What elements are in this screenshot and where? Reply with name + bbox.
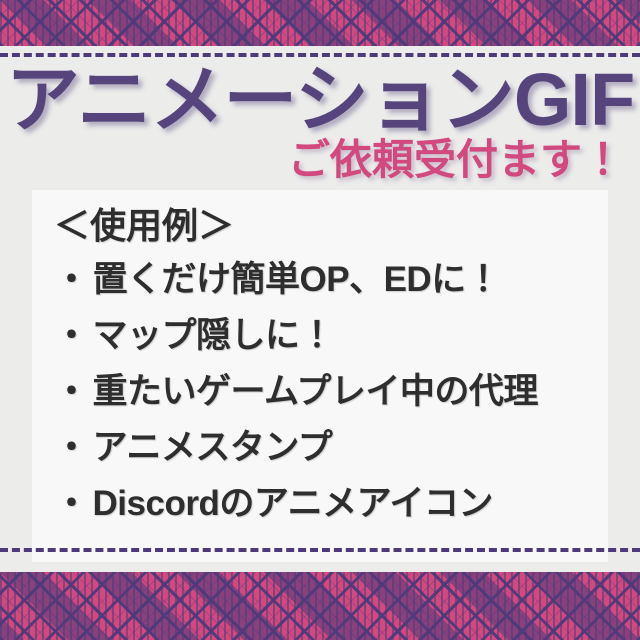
list-item: ・マップ隠しに！ <box>54 308 608 364</box>
bullet-icon: ・ <box>54 308 89 364</box>
page-subtitle: ご依頼受付ます！ <box>0 136 640 184</box>
list-item: ・Discordのアニメアイコン <box>54 476 608 532</box>
usage-card-heading: ＜使用例＞ <box>54 204 608 248</box>
list-item-label: 置くだけ簡単OP、EDに！ <box>93 260 501 299</box>
bullet-icon: ・ <box>54 252 89 308</box>
list-item: ・置くだけ簡単OP、EDに！ <box>54 252 608 308</box>
usage-list: ・置くだけ簡単OP、EDに！ ・マップ隠しに！ ・重たいゲームプレイ中の代理 ・… <box>54 252 608 532</box>
bullet-icon: ・ <box>54 420 89 476</box>
list-item: ・重たいゲームプレイ中の代理 <box>54 364 608 420</box>
plaid-band-top <box>0 0 640 46</box>
bullet-icon: ・ <box>54 364 89 420</box>
dashed-divider-bottom <box>0 548 640 552</box>
list-item: ・アニメスタンプ <box>54 420 608 476</box>
plaid-band-bottom <box>0 572 640 640</box>
page-title: アニメーションGIF <box>0 60 640 140</box>
list-item-label: アニメスタンプ <box>93 428 333 467</box>
bullet-icon: ・ <box>54 476 89 532</box>
list-item-label: 重たいゲームプレイ中の代理 <box>93 372 538 411</box>
poster-canvas: アニメーションGIF ご依頼受付ます！ ＜使用例＞ ・置くだけ簡単OP、EDに！… <box>0 0 640 640</box>
list-item-label: マップ隠しに！ <box>93 316 335 355</box>
list-item-label: Discordのアニメアイコン <box>93 484 493 523</box>
usage-card: ＜使用例＞ ・置くだけ簡単OP、EDに！ ・マップ隠しに！ ・重たいゲームプレイ… <box>32 190 608 562</box>
dashed-divider-top <box>0 53 640 57</box>
